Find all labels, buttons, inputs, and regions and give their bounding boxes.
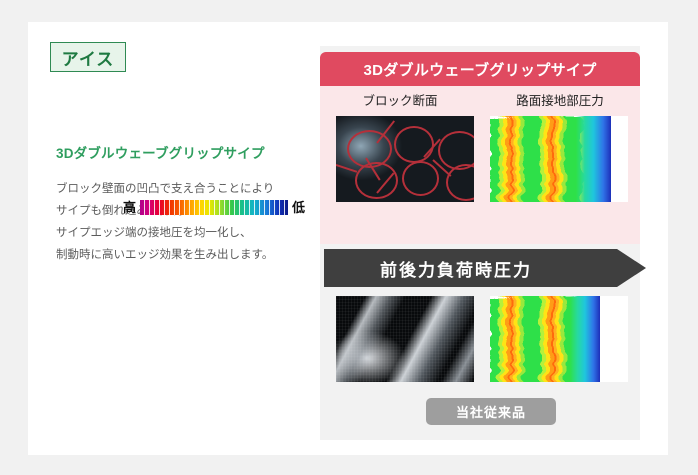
panel-title-text: 3Dダブルウェーブグリップサイプ — [363, 59, 596, 80]
heatmap-cool-edge — [570, 296, 600, 382]
conventional-product-pill: 当社従来品 — [426, 398, 556, 425]
heatmap-cool-edge — [576, 116, 612, 202]
feature-heading: 3Dダブルウェーブグリップサイプ — [56, 142, 318, 162]
conventional-pressure-heatmap — [490, 296, 628, 382]
image-conventional-block-section — [336, 296, 474, 382]
content-card: アイス 3Dダブルウェーブグリップサイプ ブロック壁面の凹凸で支え合うことにより… — [28, 22, 668, 455]
feature-body-line-1: ブロック壁面の凹凸で支え合うことにより — [56, 178, 318, 200]
column-label-block-section: ブロック断面 — [320, 90, 480, 109]
image-block-cross-section — [336, 116, 474, 202]
ice-category-badge: アイス — [50, 42, 126, 72]
scale-high-label: 高 — [123, 201, 136, 214]
panel-title-bar: 3Dダブルウェーブグリップサイプ — [320, 52, 640, 86]
scale-low-label: 低 — [292, 201, 305, 214]
arrow-banner-load-pressure: 前後力負荷時圧力 — [324, 249, 646, 287]
heatmap-white-margin — [611, 116, 628, 202]
heatmap-white-margin — [600, 296, 628, 382]
scale-tick-marks — [140, 200, 288, 215]
ice-category-badge-label: アイス — [62, 45, 115, 70]
image-contact-pressure-heatmap — [490, 116, 628, 202]
feature-body-line-3: サイプエッジ端の接地圧を均一化し、 — [56, 222, 318, 244]
annotation-circle — [402, 161, 439, 196]
panel-column-labels: ブロック断面 路面接地部圧力 — [320, 90, 640, 109]
block-cross-section-photo — [336, 116, 474, 202]
annotation-circle — [355, 162, 398, 199]
feature-body-text: ブロック壁面の凹凸で支え合うことにより サイプも倒れ込みを抑制。 サイプエッジ端… — [56, 178, 318, 266]
comparison-panel: 3Dダブルウェーブグリップサイプ ブロック断面 路面接地部圧力 — [320, 46, 640, 440]
contact-pressure-heatmap — [490, 116, 628, 202]
image-conventional-pressure-heatmap — [490, 296, 628, 382]
conventional-product-label: 当社従来品 — [456, 402, 526, 421]
column-label-contact-pressure: 路面接地部圧力 — [480, 90, 640, 109]
conventional-block-section-photo — [336, 296, 474, 382]
arrow-banner-label: 前後力負荷時圧力 — [380, 256, 532, 281]
annotation-circle — [394, 126, 434, 163]
scale-gradient-bar — [140, 200, 288, 215]
feature-body-line-4: 制動時に高いエッジ効果を生み出します。 — [56, 244, 318, 266]
annotation-circle — [446, 164, 474, 201]
pressure-color-scale: 高 低 — [123, 200, 305, 215]
annotation-connector — [336, 164, 357, 173]
